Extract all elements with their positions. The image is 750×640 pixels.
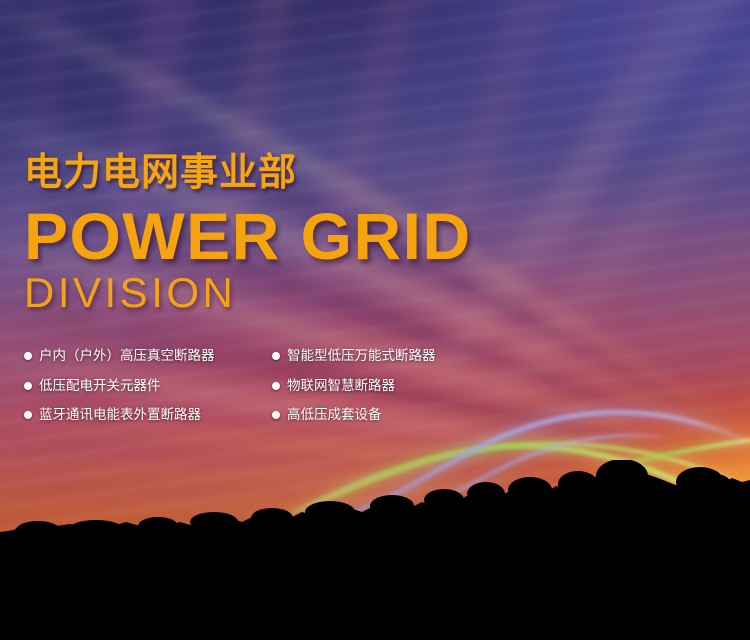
bullet-icon: [24, 411, 32, 419]
power-grid-division-banner: 电力电网事业部 POWER GRID DIVISION 户内（户外）高压真空断路…: [0, 0, 750, 640]
banner-content: 电力电网事业部 POWER GRID DIVISION 户内（户外）高压真空断路…: [24, 152, 544, 423]
feature-label: 低压配电开关元器件: [39, 378, 161, 394]
bullet-icon: [24, 382, 32, 390]
feature-column-left: 户内（户外）高压真空断路器 低压配电开关元器件 蓝牙通讯电能表外置断路器: [24, 348, 272, 423]
feature-item: 智能型低压万能式断路器: [272, 348, 544, 364]
feature-label: 户内（户外）高压真空断路器: [39, 348, 215, 364]
feature-label: 高低压成套设备: [287, 407, 382, 423]
feature-label: 物联网智慧断路器: [287, 378, 395, 394]
feature-label: 蓝牙通讯电能表外置断路器: [39, 407, 201, 423]
heading-chinese: 电力电网事业部: [24, 152, 544, 193]
feature-item: 物联网智慧断路器: [272, 378, 544, 394]
feature-list: 户内（户外）高压真空断路器 低压配电开关元器件 蓝牙通讯电能表外置断路器 智能型…: [24, 348, 544, 423]
heading-english: POWER GRID: [24, 205, 544, 268]
feature-item: 蓝牙通讯电能表外置断路器: [24, 407, 272, 423]
bullet-icon: [272, 411, 280, 419]
subheading-english: DIVISION: [24, 272, 544, 314]
bullet-icon: [272, 352, 280, 360]
feature-item: 低压配电开关元器件: [24, 378, 272, 394]
bullet-icon: [24, 352, 32, 360]
transmission-pylon-silhouette: [716, 498, 742, 536]
feature-label: 智能型低压万能式断路器: [287, 348, 436, 364]
tree-line-silhouette: [0, 460, 750, 640]
feature-item: 高低压成套设备: [272, 407, 544, 423]
bullet-icon: [272, 382, 280, 390]
feature-item: 户内（户外）高压真空断路器: [24, 348, 272, 364]
feature-column-right: 智能型低压万能式断路器 物联网智慧断路器 高低压成套设备: [272, 348, 544, 423]
